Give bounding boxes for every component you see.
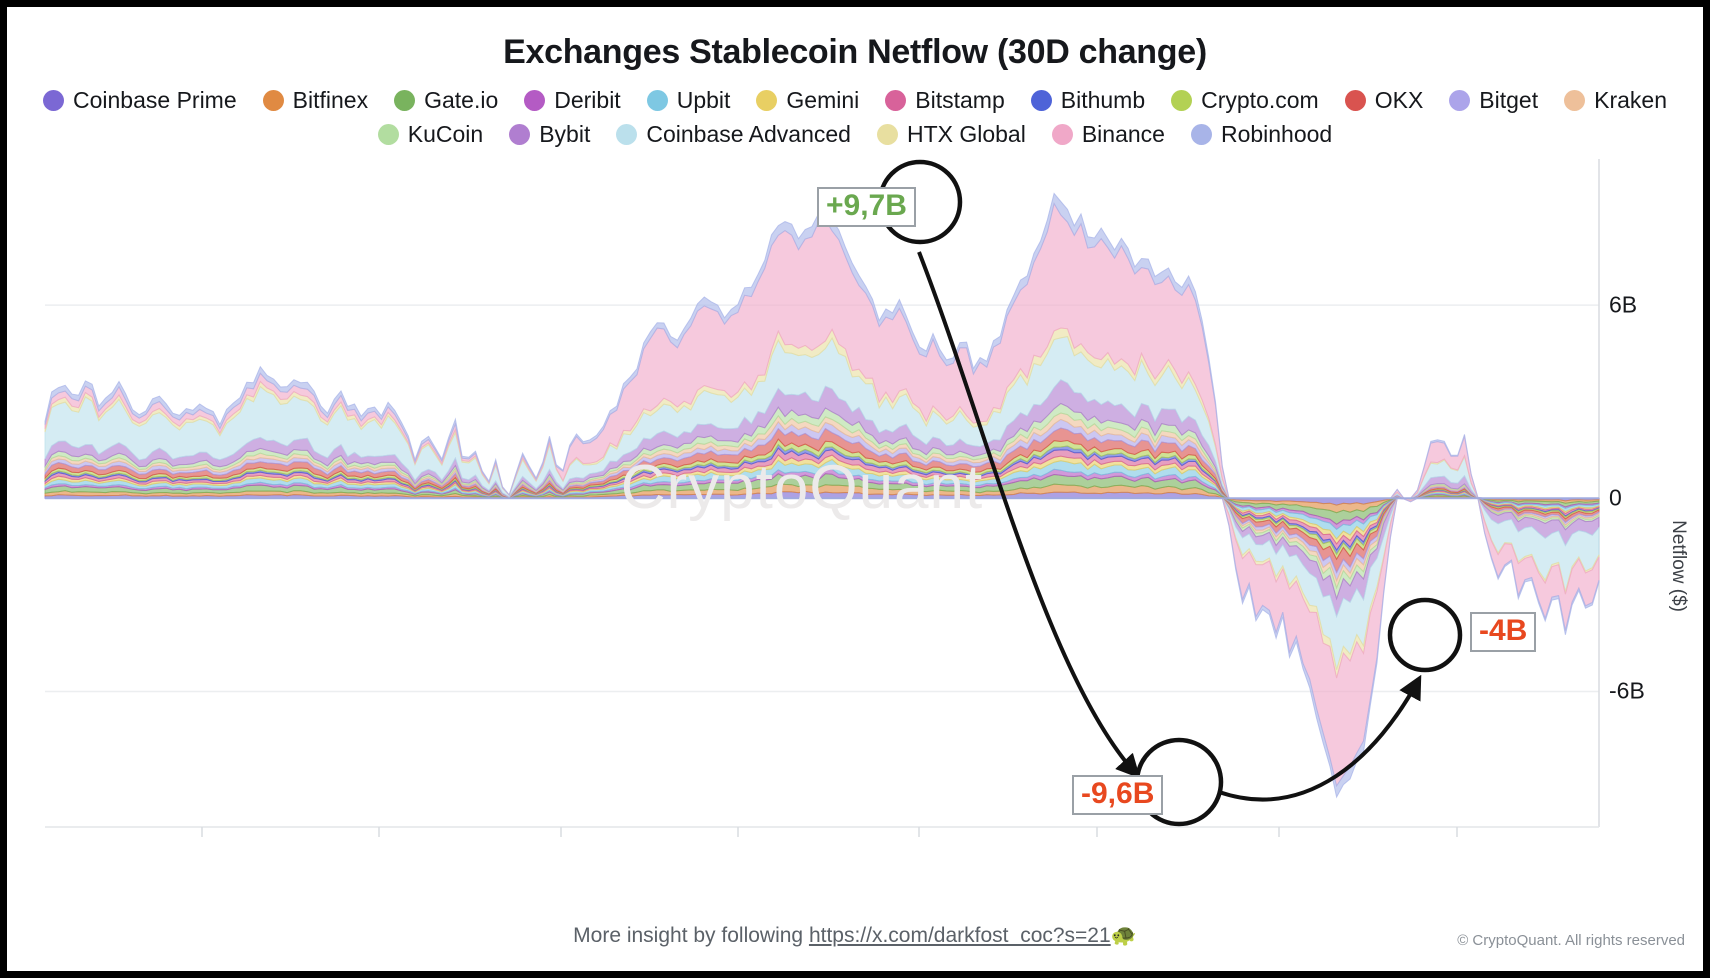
legend-item-binance[interactable]: Binance <box>1052 119 1165 149</box>
stacked-area-svg <box>7 157 1703 897</box>
legend-label: Gemini <box>786 87 859 114</box>
legend-item-gate-io[interactable]: Gate.io <box>394 85 498 115</box>
legend-swatch-icon <box>1052 124 1073 145</box>
legend-label: HTX Global <box>907 121 1026 148</box>
legend-label: Coinbase Advanced <box>646 121 851 148</box>
legend-item-kraken[interactable]: Kraken <box>1564 85 1667 115</box>
legend-swatch-icon <box>647 90 668 111</box>
annotation-circle-latest <box>1390 600 1460 670</box>
copyright-text: © CryptoQuant. All rights reserved <box>1457 932 1685 949</box>
legend-label: Bybit <box>539 121 590 148</box>
legend-swatch-icon <box>394 90 415 111</box>
footer-note: More insight by following https://x.com/… <box>7 924 1703 948</box>
legend-swatch-icon <box>509 124 530 145</box>
legend-swatch-icon <box>877 124 898 145</box>
legend-swatch-icon <box>524 90 545 111</box>
legend-label: KuCoin <box>408 121 483 148</box>
legend-label: Kraken <box>1594 87 1667 114</box>
legend-item-crypto-com[interactable]: Crypto.com <box>1171 85 1319 115</box>
legend-label: Coinbase Prime <box>73 87 237 114</box>
legend-item-upbit[interactable]: Upbit <box>647 85 731 115</box>
legend-item-okx[interactable]: OKX <box>1345 85 1424 115</box>
y-axis-tick: 0 <box>1609 485 1622 512</box>
legend-swatch-icon <box>885 90 906 111</box>
annotation-label-recent-value: -4B <box>1470 612 1536 652</box>
footer-prefix: More insight by following <box>573 924 809 947</box>
legend-label: Bithumb <box>1061 87 1145 114</box>
chart-page: Exchanges Stablecoin Netflow (30D change… <box>7 7 1703 971</box>
legend-swatch-icon <box>43 90 64 111</box>
legend-item-bithumb[interactable]: Bithumb <box>1031 85 1145 115</box>
legend-label: OKX <box>1375 87 1424 114</box>
legend-item-kucoin[interactable]: KuCoin <box>378 119 483 149</box>
legend-swatch-icon <box>1171 90 1192 111</box>
legend-item-deribit[interactable]: Deribit <box>524 85 620 115</box>
legend-item-gemini[interactable]: Gemini <box>756 85 859 115</box>
legend-swatch-icon <box>1031 90 1052 111</box>
y-axis-tick: 6B <box>1609 292 1637 319</box>
annotation-label-trough-low: -9,6B <box>1072 775 1163 815</box>
legend-swatch-icon <box>616 124 637 145</box>
legend-label: Robinhood <box>1221 121 1332 148</box>
legend-label: Upbit <box>677 87 731 114</box>
y-axis-title: Netflow ($) <box>1667 520 1689 612</box>
legend-item-bitfinex[interactable]: Bitfinex <box>263 85 368 115</box>
page-title: Exchanges Stablecoin Netflow (30D change… <box>7 33 1703 72</box>
legend-item-bitget[interactable]: Bitget <box>1449 85 1538 115</box>
legend-item-htx-global[interactable]: HTX Global <box>877 119 1026 149</box>
legend-label: Bitget <box>1479 87 1538 114</box>
legend-label: Deribit <box>554 87 620 114</box>
legend-swatch-icon <box>263 90 284 111</box>
legend-item-bitstamp[interactable]: Bitstamp <box>885 85 1004 115</box>
plot-area: CryptoQuant Netflow ($) 6B0-6B2025 Jul20… <box>7 157 1703 897</box>
annotation-label-peak-high: +9,7B <box>817 187 916 227</box>
legend-swatch-icon <box>1449 90 1470 111</box>
legend-swatch-icon <box>1564 90 1585 111</box>
legend-swatch-icon <box>756 90 777 111</box>
legend-swatch-icon <box>1191 124 1212 145</box>
footer-link[interactable]: https://x.com/darkfost_coc?s=21 <box>809 924 1111 947</box>
legend-swatch-icon <box>1345 90 1366 111</box>
legend-swatch-icon <box>378 124 399 145</box>
legend-label: Crypto.com <box>1201 87 1319 114</box>
legend-label: Bitfinex <box>293 87 368 114</box>
y-axis-tick: -6B <box>1609 678 1645 705</box>
legend-item-robinhood[interactable]: Robinhood <box>1191 119 1332 149</box>
legend-item-bybit[interactable]: Bybit <box>509 119 590 149</box>
legend-item-coinbase-advanced[interactable]: Coinbase Advanced <box>616 119 851 149</box>
legend-label: Bitstamp <box>915 87 1004 114</box>
turtle-icon: 🐢 <box>1111 924 1137 947</box>
chart-legend: Coinbase PrimeBitfinexGate.ioDeribitUpbi… <box>7 85 1703 149</box>
legend-label: Binance <box>1082 121 1165 148</box>
legend-item-coinbase-prime[interactable]: Coinbase Prime <box>43 85 237 115</box>
legend-label: Gate.io <box>424 87 498 114</box>
